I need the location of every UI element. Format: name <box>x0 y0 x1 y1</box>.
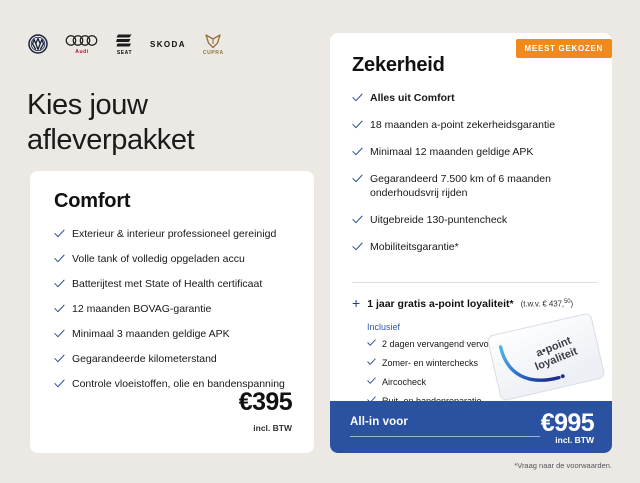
list-item: Alles uit Comfort <box>352 91 597 105</box>
list-item: Gegarandeerd 7.500 km of 6 maanden onder… <box>352 172 597 200</box>
check-icon <box>367 377 376 385</box>
audi-wordmark: Audi <box>75 49 89 55</box>
bonus-row: + 1 jaar gratis a-point loyaliteit* (t.w… <box>352 297 602 310</box>
list-item-label: Alles uit Comfort <box>370 92 455 104</box>
cupra-wordmark: CUPRA <box>203 50 224 56</box>
bonus-value-prefix: (t.w.v. € 437, <box>521 300 564 309</box>
list-item-label: Minimaal 3 maanden geldige APK <box>72 328 230 340</box>
bonus-title: 1 jaar gratis a-point loyaliteit* <box>367 298 513 310</box>
list-item: 12 maanden BOVAG-garantie <box>54 302 294 316</box>
allin-label: All-in voor <box>350 416 408 428</box>
list-item: Uitgebreide 130-puntencheck <box>352 213 597 227</box>
page-root: Audi SEAT SKODA CUPRA Kies jouw <box>0 0 640 483</box>
package-card-comfort[interactable]: Comfort Exterieur & interieur profession… <box>30 171 314 453</box>
bonus-value: (t.w.v. € 437,50) <box>521 299 573 309</box>
list-item-label: Gegarandeerd 7.500 km of 6 maanden onder… <box>370 173 551 199</box>
list-item: Minimaal 3 maanden geldige APK <box>54 327 294 341</box>
volkswagen-logo <box>28 34 48 54</box>
check-icon <box>54 304 65 313</box>
zekerheid-price-note: incl. BTW <box>555 435 594 445</box>
list-item: Gegarandeerde kilometerstand <box>54 352 294 366</box>
check-icon <box>352 147 363 156</box>
check-icon <box>352 120 363 129</box>
status-badge: MEEST GEKOZEN <box>516 39 612 58</box>
page-title-line-1: Kies jouw <box>27 88 194 123</box>
list-item: Volle tank of volledig opgeladen accu <box>54 252 294 266</box>
comfort-card-title: Comfort <box>54 190 130 213</box>
seat-logo: SEAT <box>116 33 133 56</box>
check-icon <box>54 354 65 363</box>
plus-icon: + <box>352 298 360 309</box>
list-item-label: Batterijtest met State of Health certifi… <box>72 278 262 290</box>
list-item-label: Mobiliteitsgarantie* <box>370 241 459 253</box>
list-item-label: Exterieur & interieur professioneel gere… <box>72 228 276 240</box>
list-item-label: 2 dagen vervangend vervoer <box>382 339 497 349</box>
allin-underline <box>350 436 540 437</box>
list-item-label: Aircocheck <box>382 377 426 387</box>
package-card-zekerheid[interactable]: MEEST GEKOZEN Zekerheid Alles uit Comfor… <box>330 33 612 453</box>
list-item-label: 18 maanden a-point zekerheidsgarantie <box>370 119 555 131</box>
comfort-feature-list: Exterieur & interieur professioneel gere… <box>54 227 294 402</box>
check-icon <box>352 215 363 224</box>
list-item: Mobiliteitsgarantie* <box>352 240 597 254</box>
footnote: *Vraag naar de voorwaarden. <box>514 461 612 470</box>
zekerheid-card-title: Zekerheid <box>352 54 445 77</box>
check-icon <box>54 329 65 338</box>
check-icon <box>352 93 363 102</box>
list-item: Minimaal 12 maanden geldige APK <box>352 145 597 159</box>
cupra-logo: CUPRA <box>203 33 224 56</box>
list-item: Batterijtest met State of Health certifi… <box>54 277 294 291</box>
brand-logo-row: Audi SEAT SKODA CUPRA <box>28 31 224 57</box>
bonus-value-suffix: ) <box>571 300 574 309</box>
check-icon <box>352 174 363 183</box>
comfort-price: €395 <box>239 388 292 417</box>
check-icon <box>54 279 65 288</box>
check-icon <box>54 254 65 263</box>
skoda-logo: SKODA <box>150 40 186 49</box>
check-icon <box>352 242 363 251</box>
comfort-price-note: incl. BTW <box>253 423 292 433</box>
seat-wordmark: SEAT <box>117 50 132 56</box>
list-item-label: Zomer- en winterchecks <box>382 358 478 368</box>
list-item-label: 12 maanden BOVAG-garantie <box>72 303 211 315</box>
page-title: Kies jouw afleverpakket <box>27 88 194 158</box>
list-item: Exterieur & interieur professioneel gere… <box>54 227 294 241</box>
check-icon <box>367 339 376 347</box>
list-item-label: Volle tank of volledig opgeladen accu <box>72 253 245 265</box>
skoda-wordmark: SKODA <box>150 40 186 49</box>
audi-logo: Audi <box>65 33 99 55</box>
list-item-label: Minimaal 12 maanden geldige APK <box>370 146 533 158</box>
list-item-label: Uitgebreide 130-puntencheck <box>370 214 507 226</box>
check-icon <box>54 379 65 388</box>
list-item: 18 maanden a-point zekerheidsgarantie <box>352 118 597 132</box>
zekerheid-price: €995 <box>541 409 594 438</box>
section-divider <box>352 282 597 283</box>
check-icon <box>54 229 65 238</box>
zekerheid-price-footer: All-in voor €995 incl. BTW <box>330 401 612 453</box>
list-item-label: Gegarandeerde kilometerstand <box>72 353 217 365</box>
page-title-line-2: afleverpakket <box>27 123 194 158</box>
check-icon <box>367 358 376 366</box>
zekerheid-feature-list: Alles uit Comfort 18 maanden a-point zek… <box>352 91 597 267</box>
